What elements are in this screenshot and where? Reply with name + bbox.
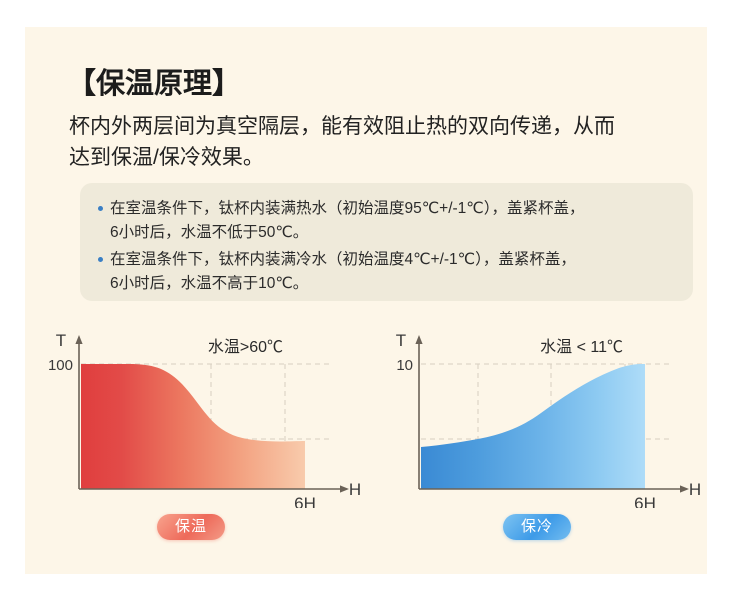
chart-annotation: 水温 < 11℃ — [540, 338, 623, 356]
y-axis-label: T — [396, 331, 406, 350]
list-item-line-1: 在室温条件下，钛杯内装满冷水（初始温度4℃+/-1℃），盖紧杯盖， — [110, 248, 688, 272]
y-tick-label: 100 — [48, 357, 73, 374]
chart-keep-warm: T H 100 6H 水温>60℃ — [33, 323, 363, 508]
list-item: 在室温条件下，钛杯内装满冷水（初始温度4℃+/-1℃），盖紧杯盖， 6小时后，水… — [96, 248, 688, 296]
intro-line-2: 达到保温/保冷效果。 — [69, 142, 694, 173]
list-item-line-1: 在室温条件下，钛杯内装满热水（初始温度95℃+/-1℃），盖紧杯盖， — [110, 197, 688, 221]
bullet-dot-icon — [98, 257, 103, 262]
x-axis-label: H — [349, 480, 361, 499]
y-axis-label: T — [56, 331, 66, 350]
bullet-dot-icon — [98, 206, 103, 211]
page-title: 【保温原理】 — [67, 60, 241, 102]
keep-cold-chart-svg: T H 10 6H 水温 < 11℃ — [373, 323, 703, 508]
keep-warm-chart-svg: T H 100 6H 水温>60℃ — [33, 323, 363, 508]
x-tick-label: 6H — [294, 494, 316, 508]
status-badge-keep-warm: 保温 — [157, 514, 225, 540]
y-tick-label: 10 — [396, 357, 413, 374]
keep-warm-area — [81, 364, 305, 489]
x-axis-arrow-icon — [680, 485, 689, 492]
chart-annotation: 水温>60℃ — [208, 338, 283, 356]
list-item: 在室温条件下，钛杯内装满热水（初始温度95℃+/-1℃），盖紧杯盖， 6小时后，… — [96, 197, 688, 245]
y-axis-arrow-icon — [75, 335, 82, 344]
status-badge-keep-cold: 保冷 — [503, 514, 571, 540]
list-item-line-2: 6小时后，水温不低于50℃。 — [110, 221, 688, 245]
spec-bullet-list: 在室温条件下，钛杯内装满热水（初始温度95℃+/-1℃），盖紧杯盖， 6小时后，… — [96, 197, 688, 299]
x-axis-arrow-icon — [340, 485, 349, 492]
spec-bullet-box: 在室温条件下，钛杯内装满热水（初始温度95℃+/-1℃），盖紧杯盖， 6小时后，… — [80, 183, 693, 301]
intro-line-1: 杯内外两层间为真空隔层，能有效阻止热的双向传递，从而 — [69, 111, 694, 142]
intro-paragraph: 杯内外两层间为真空隔层，能有效阻止热的双向传递，从而 达到保温/保冷效果。 — [69, 111, 694, 173]
x-axis-label: H — [689, 480, 701, 499]
keep-cold-area — [421, 364, 645, 489]
list-item-line-2: 6小时后，水温不高于10℃。 — [110, 272, 688, 296]
y-axis-arrow-icon — [415, 335, 422, 344]
content-panel: 【保温原理】 杯内外两层间为真空隔层，能有效阻止热的双向传递，从而 达到保温/保… — [25, 27, 707, 574]
x-tick-label: 6H — [634, 494, 656, 508]
chart-keep-cold: T H 10 6H 水温 < 11℃ — [373, 323, 703, 508]
